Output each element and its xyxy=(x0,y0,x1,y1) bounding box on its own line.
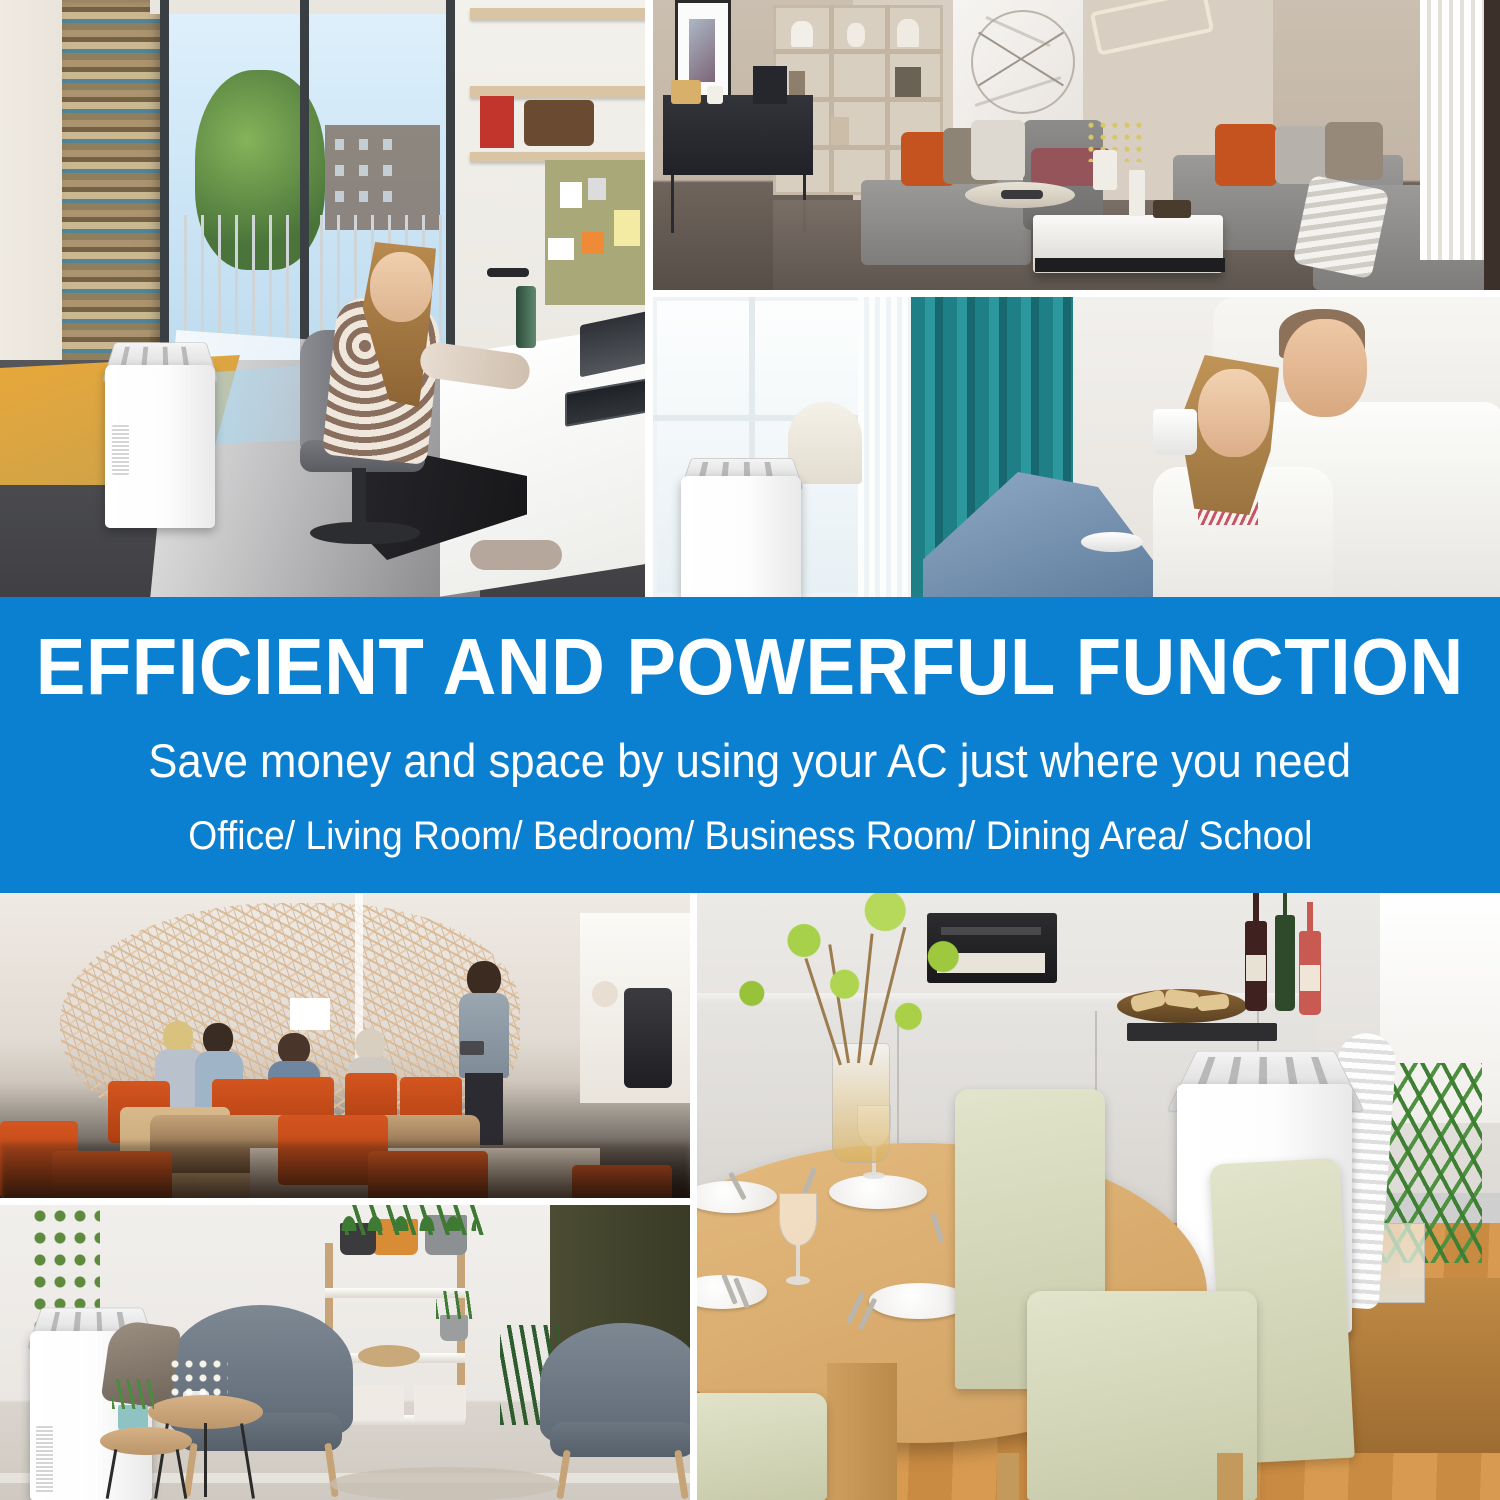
saucer xyxy=(1081,532,1143,552)
bread-bowl xyxy=(1117,989,1247,1023)
cushion-white xyxy=(971,120,1025,180)
portable-ac-unit-bedroom xyxy=(681,455,801,597)
cushion-orange-right xyxy=(1215,124,1277,186)
panel-business-room xyxy=(0,893,690,1198)
woven-tray xyxy=(358,1345,420,1367)
banner-title: EFFICIENT AND POWERFUL FUNCTION xyxy=(36,627,1464,707)
coffee-mug xyxy=(1153,409,1197,455)
banner-subtitle: Save money and space by using your AC ju… xyxy=(149,737,1352,784)
product-feature-collage: EFFICIENT AND POWERFUL FUNCTION Save mon… xyxy=(0,0,1500,1500)
panel-dining-area xyxy=(697,893,1500,1500)
sideboard xyxy=(663,95,813,175)
dining-chair-left-front xyxy=(697,1393,827,1500)
storage-basket-2 xyxy=(414,1385,466,1419)
coat-rack xyxy=(624,988,672,1088)
water-bottle xyxy=(516,286,536,348)
green-branches xyxy=(717,893,1007,1113)
panel-office xyxy=(0,0,645,597)
panel-school-lounge xyxy=(0,1205,690,1500)
banner-rooms: Office/ Living Room/ Bedroom/ Business R… xyxy=(188,816,1312,856)
panel-bedroom xyxy=(653,297,1500,597)
panel-living-room xyxy=(653,0,1500,290)
storage-basket-1 xyxy=(352,1385,404,1419)
wine-glass-4 xyxy=(779,1193,817,1285)
portable-ac-unit-office xyxy=(105,338,215,528)
plate-4 xyxy=(869,1283,969,1319)
promo-banner: EFFICIENT AND POWERFUL FUNCTION Save mon… xyxy=(0,597,1500,893)
floor-rug xyxy=(330,1467,560,1500)
cushion-taupe xyxy=(1325,122,1383,180)
tub-chair-right xyxy=(540,1323,690,1499)
plate-2 xyxy=(829,1175,927,1209)
wine-bottle-green xyxy=(1275,915,1295,1011)
